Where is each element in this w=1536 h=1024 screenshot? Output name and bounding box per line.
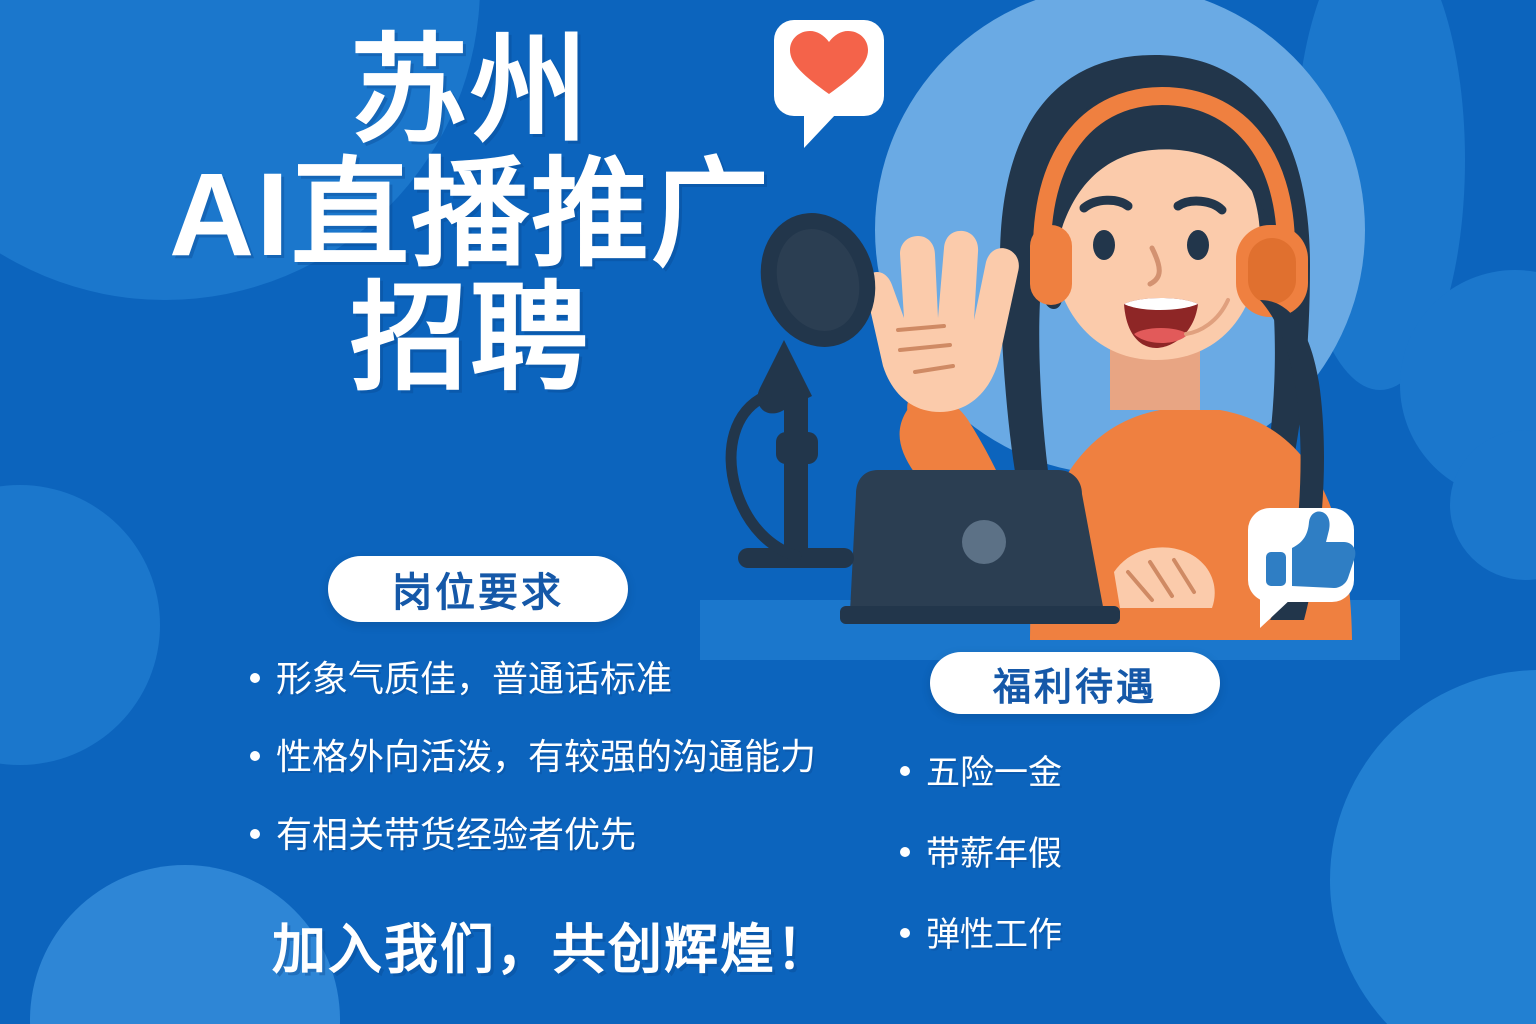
headline-line-2: AI直播推广 <box>120 154 820 278</box>
list-item: 形象气质佳，普通话标准 <box>250 650 816 702</box>
bullet-dot-icon <box>250 829 260 839</box>
laptop-logo <box>962 520 1006 564</box>
list-item: 性格外向活泼，有较强的沟通能力 <box>250 728 816 780</box>
poster-headline: 苏州 AI直播推广 招聘 <box>120 30 820 402</box>
benefit-text: 五险一金 <box>926 745 1062 794</box>
headline-line-3: 招聘 <box>120 278 820 402</box>
benefits-title-badge: 福利待遇 <box>930 652 1220 714</box>
bullet-dot-icon <box>900 928 910 938</box>
list-item: 五险一金 <box>900 745 1062 794</box>
benefits-list: 五险一金 带薪年假 弹性工作 <box>900 745 1062 988</box>
list-item: 带薪年假 <box>900 826 1062 875</box>
requirement-text: 有相关带货经验者优先 <box>276 806 636 858</box>
bullet-dot-icon <box>900 847 910 857</box>
benefit-text: 带薪年假 <box>926 826 1062 875</box>
list-item: 弹性工作 <box>900 907 1062 956</box>
bullet-dot-icon <box>900 766 910 776</box>
eye-left <box>1093 230 1115 260</box>
eye-right <box>1187 230 1209 260</box>
background-circle-middle-left <box>0 485 160 765</box>
headline-line-1: 苏州 <box>120 30 820 154</box>
requirements-list: 形象气质佳，普通话标准 性格外向活泼，有较强的沟通能力 有相关带货经验者优先 <box>250 650 816 884</box>
requirement-text: 形象气质佳，普通话标准 <box>276 650 672 702</box>
recruitment-poster: 苏州 AI直播推广 招聘 岗位要求 形象气质佳，普通话标准 性格外向活泼，有较强… <box>0 0 1536 1024</box>
requirement-text: 性格外向活泼，有较强的沟通能力 <box>276 728 816 780</box>
poster-slogan: 加入我们，共创辉煌！ <box>272 905 832 984</box>
benefit-text: 弹性工作 <box>926 907 1062 956</box>
background-circle-bottom-right <box>1330 670 1536 1024</box>
headphone-earcup-left <box>1030 225 1072 305</box>
bullet-dot-icon <box>250 751 260 761</box>
list-item: 有相关带货经验者优先 <box>250 806 816 858</box>
bullet-dot-icon <box>250 673 260 683</box>
laptop-base <box>840 606 1120 624</box>
requirements-title-badge: 岗位要求 <box>328 556 628 622</box>
headphone-earcup-right-inner <box>1248 238 1296 304</box>
